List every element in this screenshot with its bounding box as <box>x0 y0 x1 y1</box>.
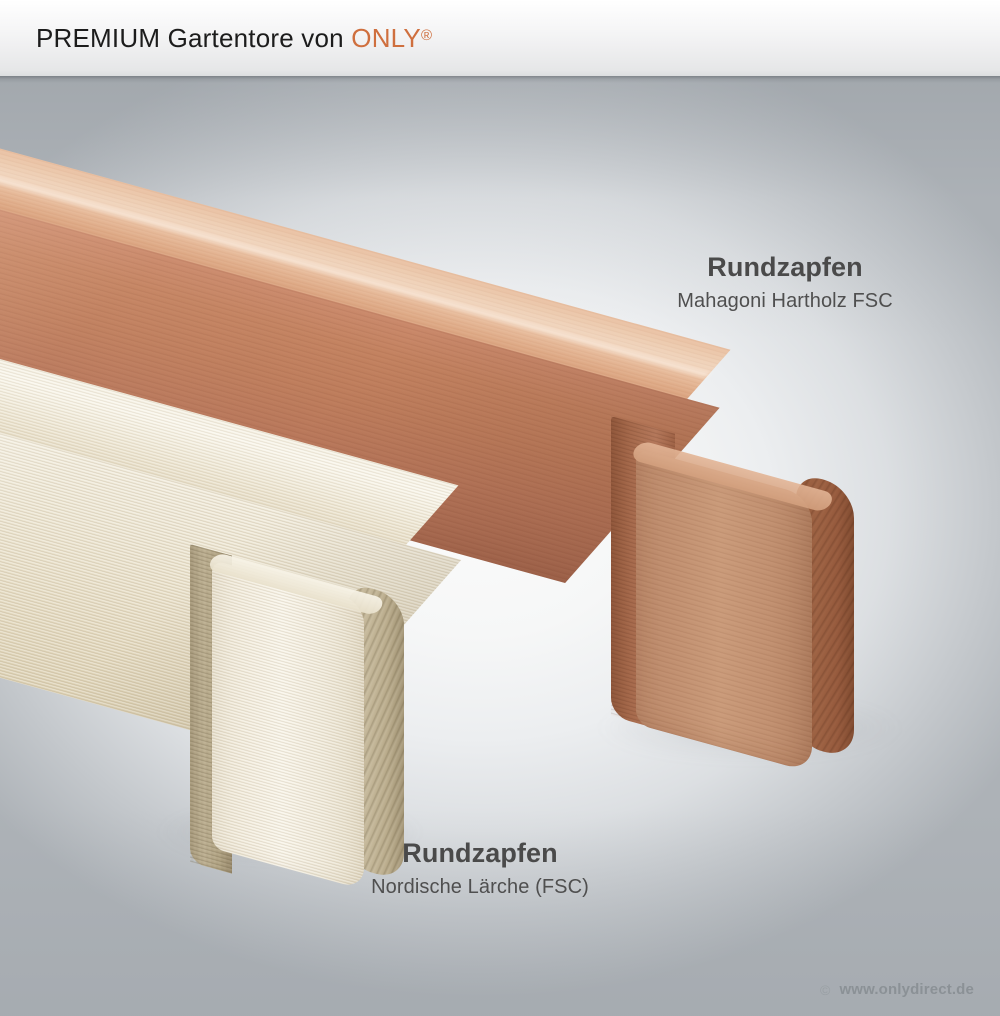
larch-round-tenon <box>212 560 412 872</box>
header-bar: PREMIUM Gartentore von ONLY® <box>0 0 1000 76</box>
photo-stage: Rundzapfen Mahagoni Hartholz FSC Rundzap… <box>0 76 1000 1016</box>
watermark-url: www.onlydirect.de <box>839 981 974 998</box>
larch-caption: Rundzapfen Nordische Lärche (FSC) <box>335 838 625 900</box>
copyright-icon: © <box>820 982 830 998</box>
brand-label: ONLY <box>351 23 421 53</box>
mahogany-caption-title: Rundzapfen <box>660 252 910 282</box>
header-title-wrap: PREMIUM Gartentore von ONLY® <box>36 0 432 76</box>
mahogany-caption-subtitle: Mahagoni Hartholz FSC <box>660 288 910 314</box>
page-title: PREMIUM Gartentore von ONLY® <box>36 23 432 54</box>
product-image-canvas: PREMIUM Gartentore von ONLY® <box>0 0 1000 1016</box>
header-title-prefix: PREMIUM Gartentore von <box>36 23 351 53</box>
larch-caption-title: Rundzapfen <box>335 838 625 868</box>
mahogany-round-tenon <box>636 448 854 746</box>
brand-name-only: ONLY® <box>351 23 432 53</box>
mahogany-caption: Rundzapfen Mahagoni Hartholz FSC <box>660 252 910 314</box>
registered-trademark-icon: ® <box>421 27 432 44</box>
watermark: © www.onlydirect.de <box>820 981 974 998</box>
larch-caption-subtitle: Nordische Lärche (FSC) <box>335 874 625 900</box>
